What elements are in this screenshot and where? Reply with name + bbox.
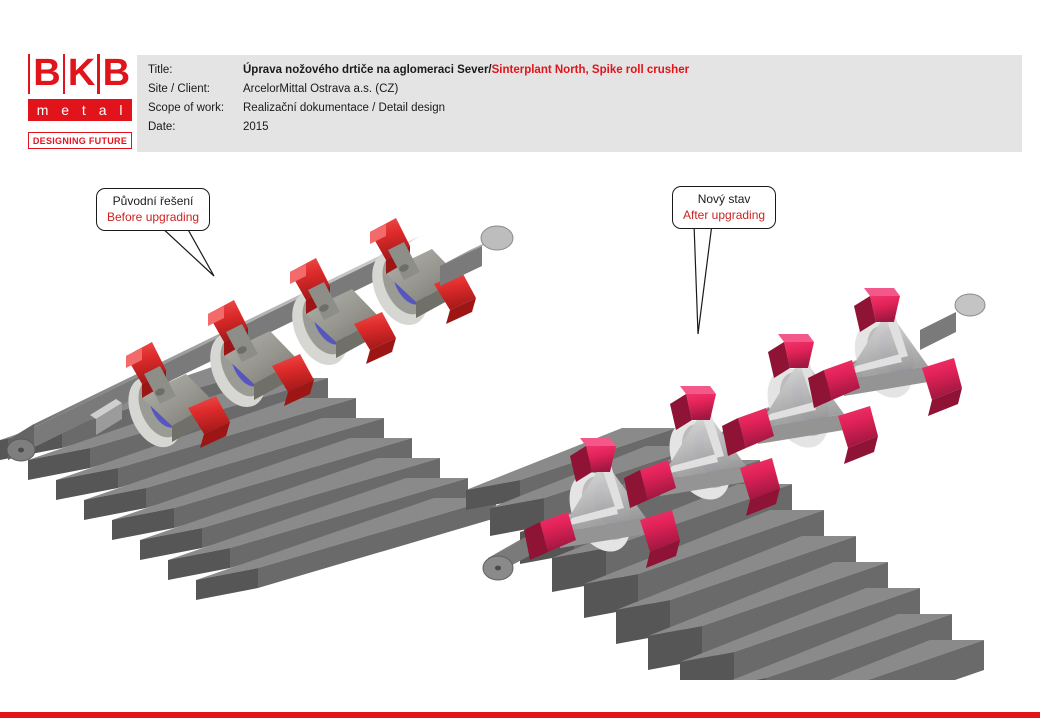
callout-before-upgrading[interactable]: Původní řešení Before upgrading (96, 188, 210, 231)
right-shaft-stub (920, 294, 985, 350)
header-row-title: Title: Úprava nožového drtiče na aglomer… (148, 64, 1018, 83)
header-value-scope: Realizační dokumentace / Detail design (243, 102, 445, 114)
header-label-scope: Scope of work: (148, 102, 243, 114)
callout-before-line2: Before upgrading (107, 209, 199, 225)
logo-tagline-box: DESIGNING FUTURE (28, 132, 132, 149)
logo-lettermark: B K B (28, 54, 132, 94)
left-shaft-stub (440, 226, 513, 286)
bkb-metal-logo: B K B m e t a l DESIGNING FUTURE (28, 54, 132, 149)
header-label-date: Date: (148, 121, 243, 133)
header-info-table: Title: Úprava nožového drtiče na aglomer… (148, 64, 1018, 140)
header-value-date: 2015 (243, 121, 269, 133)
logo-wordmark-banner: m e t a l (28, 99, 132, 121)
header-value-title-cs: Úprava nožového drtiče na aglomeraci Sev… (243, 64, 492, 76)
logo-letter-k: K (68, 54, 94, 94)
header-row-date: Date: 2015 (148, 121, 1018, 140)
header-value-client: ArcelorMittal Ostrava a.s. (CZ) (243, 83, 398, 95)
logo-bar-icon (97, 54, 99, 94)
right-hub-assembly-3 (722, 334, 878, 464)
footer-accent-bar (0, 712, 1040, 718)
logo-bar-icon (28, 54, 30, 94)
crusher-renders-svg (0, 160, 1040, 680)
header-row-scope: Scope of work: Realizační dokumentace / … (148, 102, 1018, 121)
slide-canvas: B K B m e t a l DESIGNING FUTURE Title: … (0, 0, 1040, 720)
header-label-client: Site / Client: (148, 83, 243, 95)
callout-after-line2: After upgrading (683, 207, 765, 223)
header-value-title: Úprava nožového drtiče na aglomeraci Sev… (243, 64, 689, 76)
callout-after-box[interactable]: Nový stav After upgrading (672, 186, 776, 229)
callout-after-line1: Nový stav (683, 191, 765, 207)
callout-after-upgrading[interactable]: Nový stav After upgrading (672, 186, 776, 229)
logo-letter-b1: B (33, 54, 59, 94)
callout-before-box[interactable]: Původní řešení Before upgrading (96, 188, 210, 231)
logo-tagline-text: DESIGNING FUTURE (33, 136, 127, 146)
header-value-title-en: Sinterplant North, Spike roll crusher (492, 64, 689, 76)
logo-letter-b2: B (103, 54, 129, 94)
logo-bar-icon (63, 54, 65, 94)
artwork-area (0, 160, 1040, 680)
right-hub-assembly-4 (808, 288, 962, 416)
logo-wordmark-text: m e t a l (37, 102, 127, 118)
header-label-title: Title: (148, 64, 243, 76)
header-row-client: Site / Client: ArcelorMittal Ostrava a.s… (148, 83, 1018, 102)
callout-before-line1: Původní řešení (107, 193, 199, 209)
